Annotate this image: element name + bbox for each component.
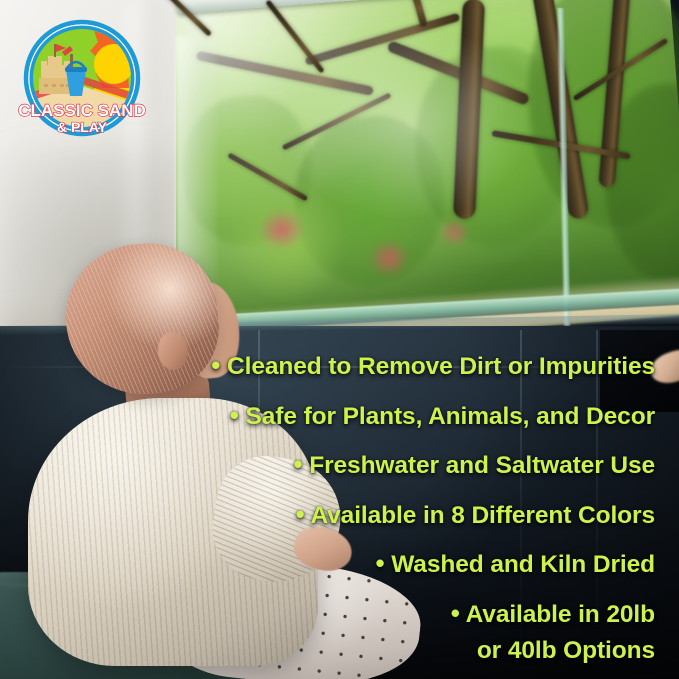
- brand-logo: CLASSIC SAND & PLAY: [8, 18, 156, 138]
- bullet-item-4: • Available in 8 Different Colors: [15, 501, 655, 529]
- bullet-dot-icon: •: [211, 350, 220, 380]
- water-light-haze: [272, 14, 547, 233]
- bullet-dot-icon: •: [375, 548, 384, 578]
- bullet-text: Washed and Kiln Dried: [391, 551, 655, 578]
- bullet-dot-icon: •: [230, 400, 239, 430]
- bullet-dot-icon: •: [451, 598, 460, 628]
- bullet-text: Available in 20lb: [466, 601, 655, 628]
- bullet-item-6-continuation: or 40lb Options: [15, 639, 655, 664]
- bullet-dot-icon: •: [293, 449, 302, 479]
- bullet-item-2: • Safe for Plants, Animals, and Decor: [15, 402, 655, 430]
- bullet-item-5: • Washed and Kiln Dried: [15, 550, 655, 578]
- bullet-text: Available in 8 Different Colors: [310, 502, 655, 529]
- bullet-dot-icon: •: [296, 499, 305, 529]
- bullet-text: Cleaned to Remove Dirt or Impurities: [227, 353, 655, 380]
- bullet-text: Freshwater and Saltwater Use: [309, 452, 655, 479]
- red-plant: [438, 217, 470, 247]
- product-marketing-image: CLASSIC SAND & PLAY • Cleaned to Remove …: [0, 0, 679, 679]
- bullet-text: or 40lb Options: [477, 637, 655, 664]
- feature-bullet-list: • Cleaned to Remove Dirt or Impurities •…: [15, 352, 655, 679]
- logo-wordmark-line1: CLASSIC SAND: [18, 101, 146, 120]
- bullet-item-6: • Available in 20lb: [15, 600, 655, 628]
- logo-wordmark-line2: & PLAY: [57, 119, 108, 135]
- bullet-item-1: • Cleaned to Remove Dirt or Impurities: [15, 352, 655, 380]
- bullet-item-3: • Freshwater and Saltwater Use: [15, 451, 655, 479]
- bullet-text: Safe for Plants, Animals, and Decor: [246, 403, 655, 430]
